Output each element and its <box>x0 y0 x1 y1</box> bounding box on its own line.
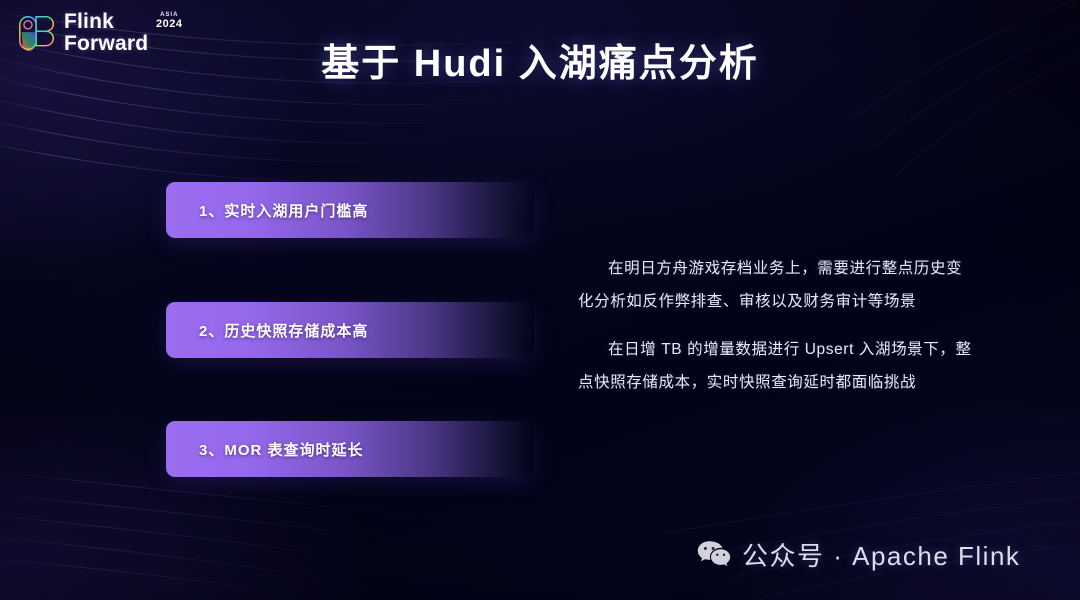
wechat-icon <box>697 540 731 570</box>
watermark-label: 公众号 · Apache Flink <box>742 536 1020 573</box>
slide-body-text: 在明日方舟游戏存档业务上，需要进行整点历史变化分析如反作弊排查、审核以及财务审计… <box>578 236 978 415</box>
presentation-slide: Flink Forward ASIA 2024 基于 Hudi 入湖痛点分析 1… <box>0 0 1080 600</box>
pain-point-item-1: 1、实时入湖用户门槛高 <box>166 182 534 238</box>
pain-point-label: 1、实时入湖用户门槛高 <box>166 200 368 221</box>
pain-point-label: 2、历史快照存储成本高 <box>166 320 368 341</box>
logo-word-line1: Flink <box>64 10 114 33</box>
wechat-watermark: 公众号 · Apache Flink <box>697 536 1020 573</box>
pain-point-label: 3、MOR 表查询时延长 <box>166 439 364 460</box>
slide-title: 基于 Hudi 入湖痛点分析 <box>0 32 1080 87</box>
pain-point-item-3: 3、MOR 表查询时延长 <box>166 421 534 477</box>
body-paragraph-2: 在日增 TB 的增量数据进行 Upsert 入湖场景下，整点快照存储成本，实时快… <box>578 333 978 399</box>
pain-point-item-2: 2、历史快照存储成本高 <box>166 302 534 358</box>
logo-event-badge: ASIA 2024 <box>156 12 182 30</box>
logo-badge-year: 2024 <box>156 19 182 30</box>
body-paragraph-1: 在明日方舟游戏存档业务上，需要进行整点历史变化分析如反作弊排查、审核以及财务审计… <box>578 252 978 318</box>
